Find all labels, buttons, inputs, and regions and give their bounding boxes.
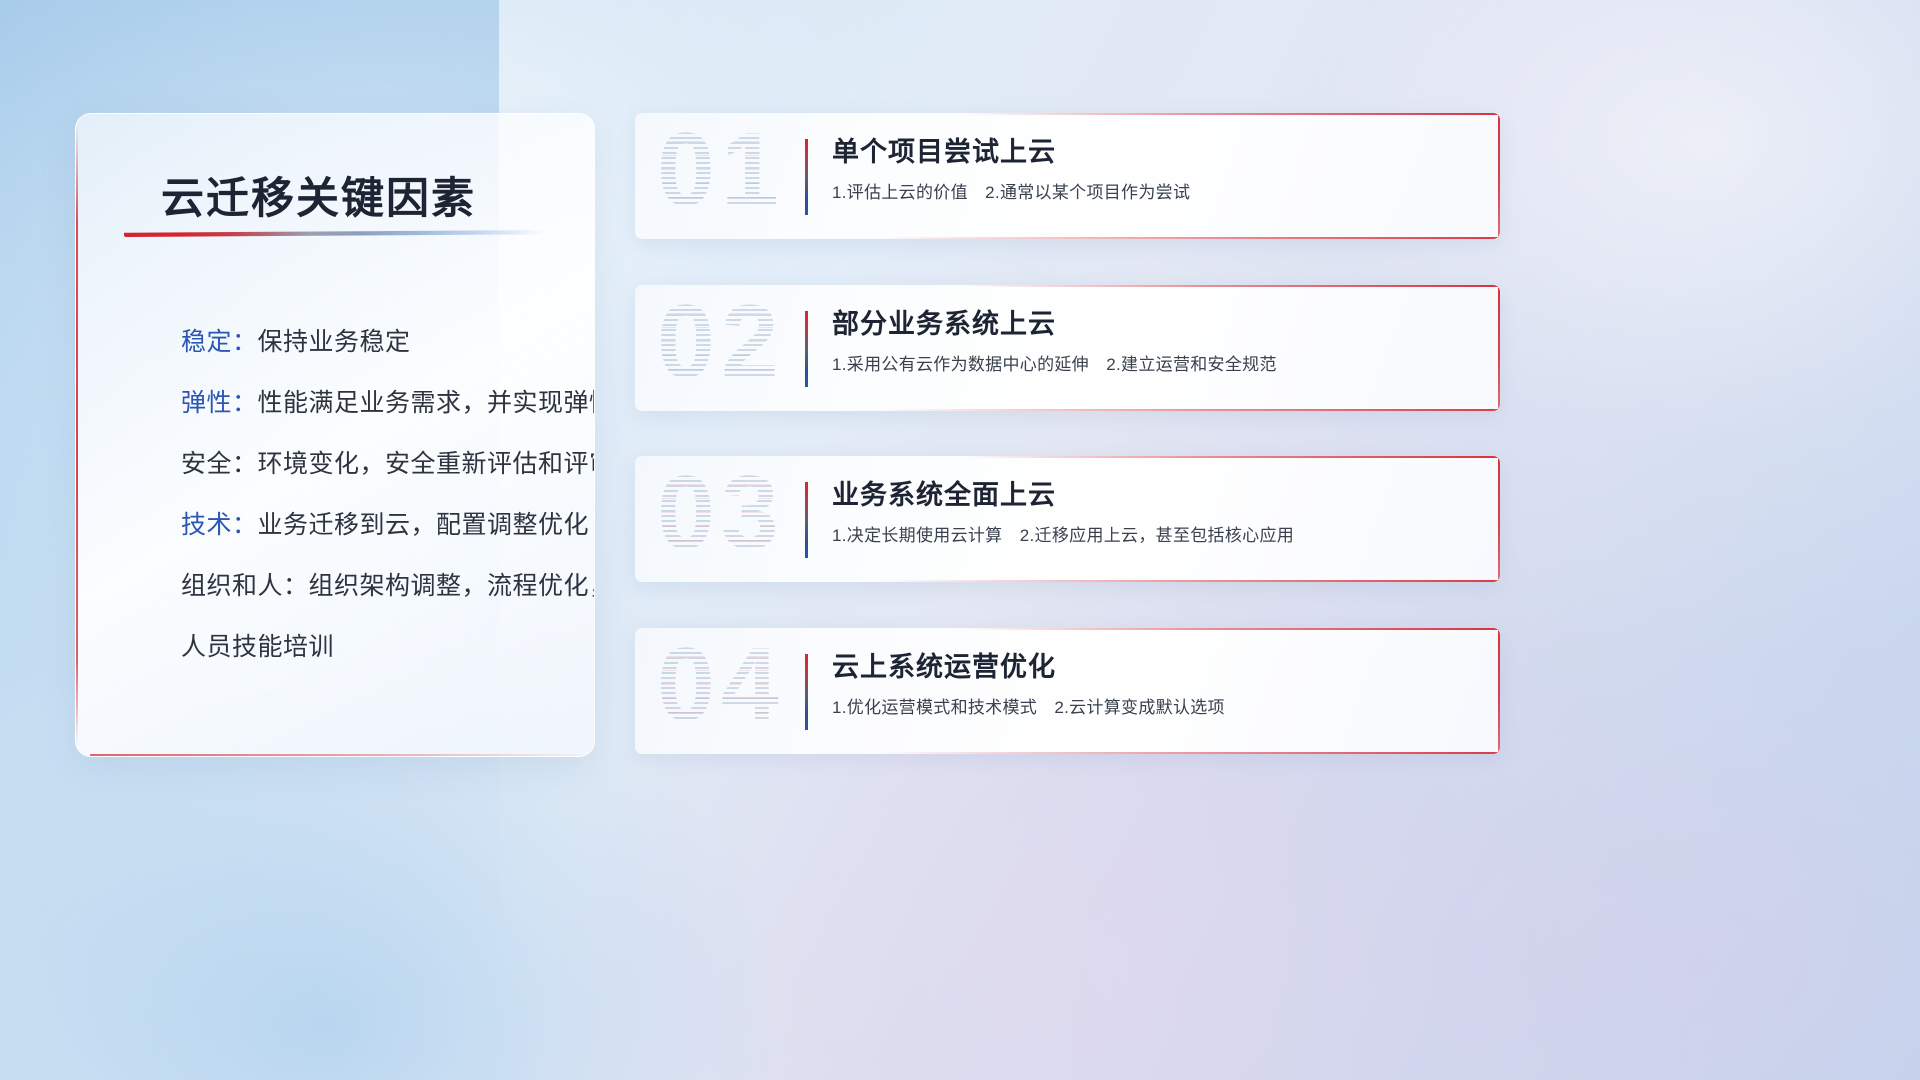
step-title: 云上系统运营优化: [832, 648, 1484, 686]
step-accent-divider: [805, 139, 808, 215]
step-text-block: 云上系统运营优化1.优化运营模式和技术模式 2.云计算变成默认选项: [832, 648, 1484, 720]
step-card-03[interactable]: 0303业务系统全面上云1.决定长期使用云计算 2.迁移应用上云，甚至包括核心应…: [635, 456, 1500, 582]
factor-description: 人员技能培训: [181, 633, 334, 661]
factor-description: 组织架构调整，流程优化，: [309, 572, 595, 600]
factor-label: 技术：: [181, 511, 258, 539]
step-number-watermark-tint: 04: [657, 628, 785, 748]
factor-row: 组织和人：组织架构调整，流程优化，: [181, 556, 566, 617]
factor-description: 保持业务稳定: [258, 328, 411, 356]
step-card-bottom-rule: [877, 237, 1500, 239]
step-number-watermark-tint: 02: [657, 285, 785, 405]
step-subtitle: 1.决定长期使用云计算 2.迁移应用上云，甚至包括核心应用: [832, 523, 1484, 548]
step-number-watermark-tint: 01: [657, 113, 785, 233]
factor-row: 人员技能培训: [181, 617, 566, 678]
step-subtitle: 1.评估上云的价值 2.通常以某个项目作为尝试: [832, 180, 1484, 205]
factor-description: 性能满足业务需求，并实现弹性: [258, 389, 595, 417]
factor-description: 业务迁移到云，配置调整优化: [258, 511, 590, 539]
step-title: 部分业务系统上云: [832, 305, 1484, 343]
panel-title: 云迁移关键因素: [161, 164, 476, 226]
factor-label: 稳定：: [181, 328, 258, 356]
factor-label: 弹性：: [181, 389, 258, 417]
factor-label: 安全：: [181, 450, 258, 478]
slide-stage: 云迁移关键因素 稳定：保持业务稳定弹性：性能满足业务需求，并实现弹性安全：环境变…: [0, 0, 1920, 1080]
factor-row: 安全：环境变化，安全重新评估和评审: [181, 434, 566, 495]
factor-row: 弹性：性能满足业务需求，并实现弹性: [181, 373, 566, 434]
step-subtitle: 1.采用公有云作为数据中心的延伸 2.建立运营和安全规范: [832, 352, 1484, 377]
step-title: 业务系统全面上云: [832, 476, 1484, 514]
step-card-bottom-rule: [877, 409, 1500, 411]
step-text-block: 业务系统全面上云1.决定长期使用云计算 2.迁移应用上云，甚至包括核心应用: [832, 476, 1484, 548]
key-factors-panel: 云迁移关键因素 稳定：保持业务稳定弹性：性能满足业务需求，并实现弹性安全：环境变…: [75, 113, 595, 757]
step-card-01[interactable]: 0101单个项目尝试上云1.评估上云的价值 2.通常以某个项目作为尝试: [635, 113, 1500, 239]
factor-description: 环境变化，安全重新评估和评审: [258, 450, 595, 478]
factor-list: 稳定：保持业务稳定弹性：性能满足业务需求，并实现弹性安全：环境变化，安全重新评估…: [181, 312, 566, 678]
step-card-bottom-rule: [877, 580, 1500, 582]
step-accent-divider: [805, 311, 808, 387]
factor-label: 组织和人：: [181, 572, 309, 600]
step-accent-divider: [805, 654, 808, 730]
step-card-04[interactable]: 0404云上系统运营优化1.优化运营模式和技术模式 2.云计算变成默认选项: [635, 628, 1500, 754]
step-title: 单个项目尝试上云: [832, 133, 1484, 171]
title-underline-gradient: [124, 230, 544, 237]
step-accent-divider: [805, 482, 808, 558]
step-card-bottom-rule: [877, 752, 1500, 754]
step-number-watermark-tint: 03: [657, 456, 785, 576]
factor-row: 技术：业务迁移到云，配置调整优化: [181, 495, 566, 556]
step-text-block: 部分业务系统上云1.采用公有云作为数据中心的延伸 2.建立运营和安全规范: [832, 305, 1484, 377]
factor-row: 稳定：保持业务稳定: [181, 312, 566, 373]
step-subtitle: 1.优化运营模式和技术模式 2.云计算变成默认选项: [832, 695, 1484, 720]
step-card-02[interactable]: 0202部分业务系统上云1.采用公有云作为数据中心的延伸 2.建立运营和安全规范: [635, 285, 1500, 411]
step-text-block: 单个项目尝试上云1.评估上云的价值 2.通常以某个项目作为尝试: [832, 133, 1484, 205]
